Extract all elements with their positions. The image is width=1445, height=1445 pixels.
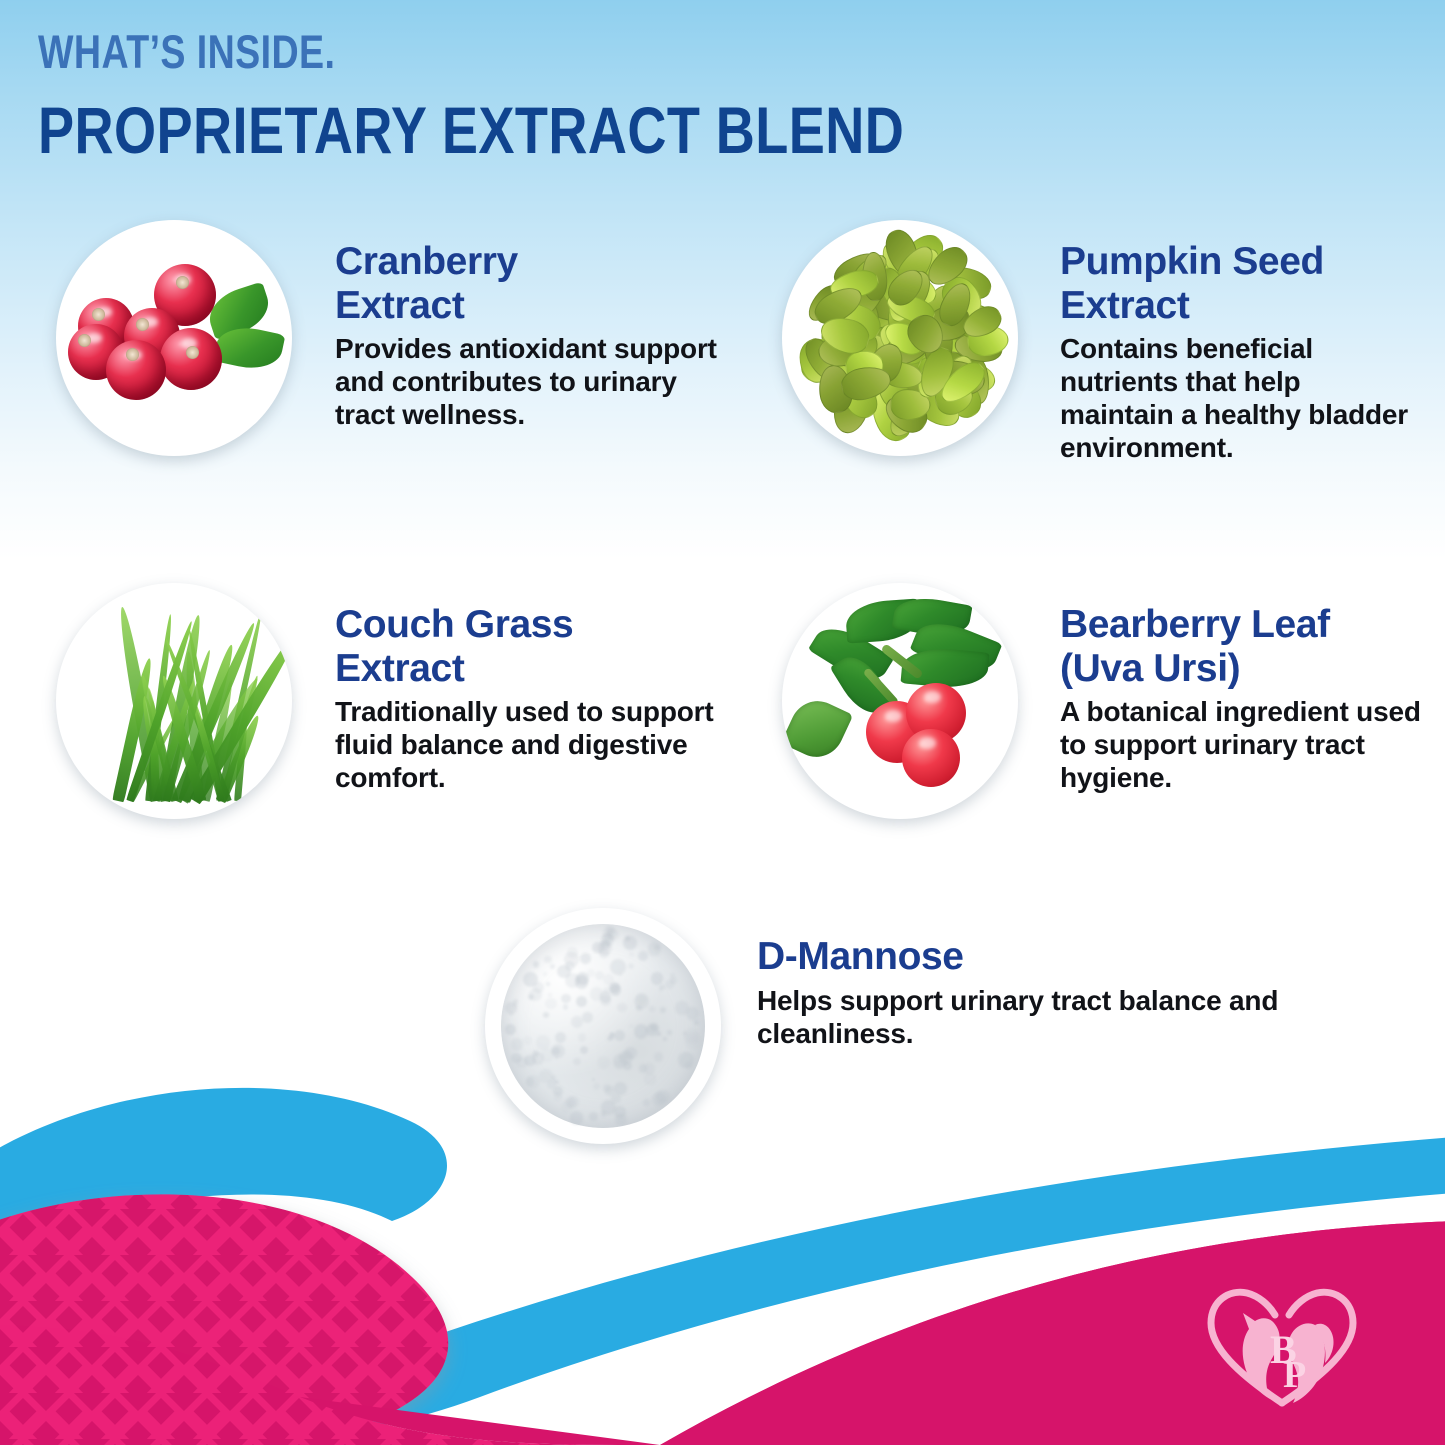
- page-title: PROPRIETARY EXTRACT BLEND: [38, 97, 1022, 163]
- cranberry-thumbnail: [56, 220, 292, 456]
- ingredient-name: D-Mannose: [757, 935, 1317, 979]
- header-block: WHAT’S INSIDE. PROPRIETARY EXTRACT BLEND: [38, 28, 1238, 163]
- ingredient-name: Pumpkin Seed Extract: [1060, 240, 1415, 327]
- ingredient-description: Traditionally used to support fluid bala…: [335, 695, 730, 794]
- ingredient-name: Couch Grass Extract: [335, 603, 730, 690]
- cranberry-text: Cranberry Extract Provides antioxidant s…: [335, 240, 725, 431]
- cranberries-photo: [56, 220, 292, 456]
- pumpkin-seed-text: Pumpkin Seed Extract Contains beneficial…: [1060, 240, 1415, 464]
- pumpkin-seeds-photo: [782, 220, 1018, 456]
- couch-grass-photo: [56, 583, 292, 819]
- ingredient-description: Provides antioxidant support and contrib…: [335, 332, 725, 431]
- couch-grass-thumbnail: [56, 583, 292, 819]
- bearberry-thumbnail: [782, 583, 1018, 819]
- pumpkin-seed-thumbnail: [782, 220, 1018, 456]
- bearberry-text: Bearberry Leaf (Uva Ursi) A botanical in…: [1060, 603, 1425, 794]
- monogram-letter-p: P: [1283, 1354, 1306, 1396]
- ingredient-description: Contains beneficial nutrients that help …: [1060, 332, 1415, 464]
- ingredient-description: A botanical ingredient used to support u…: [1060, 695, 1425, 794]
- ingredient-name: Bearberry Leaf (Uva Ursi): [1060, 603, 1425, 690]
- couch-grass-text: Couch Grass Extract Traditionally used t…: [335, 603, 730, 794]
- ingredient-name: Cranberry Extract: [335, 240, 725, 327]
- infographic-page: WHAT’S INSIDE. PROPRIETARY EXTRACT BLEND: [0, 0, 1445, 1445]
- bearberry-leaf-photo: [782, 583, 1018, 819]
- brand-logo: B P: [1197, 1281, 1367, 1413]
- page-kicker: WHAT’S INSIDE.: [38, 28, 998, 75]
